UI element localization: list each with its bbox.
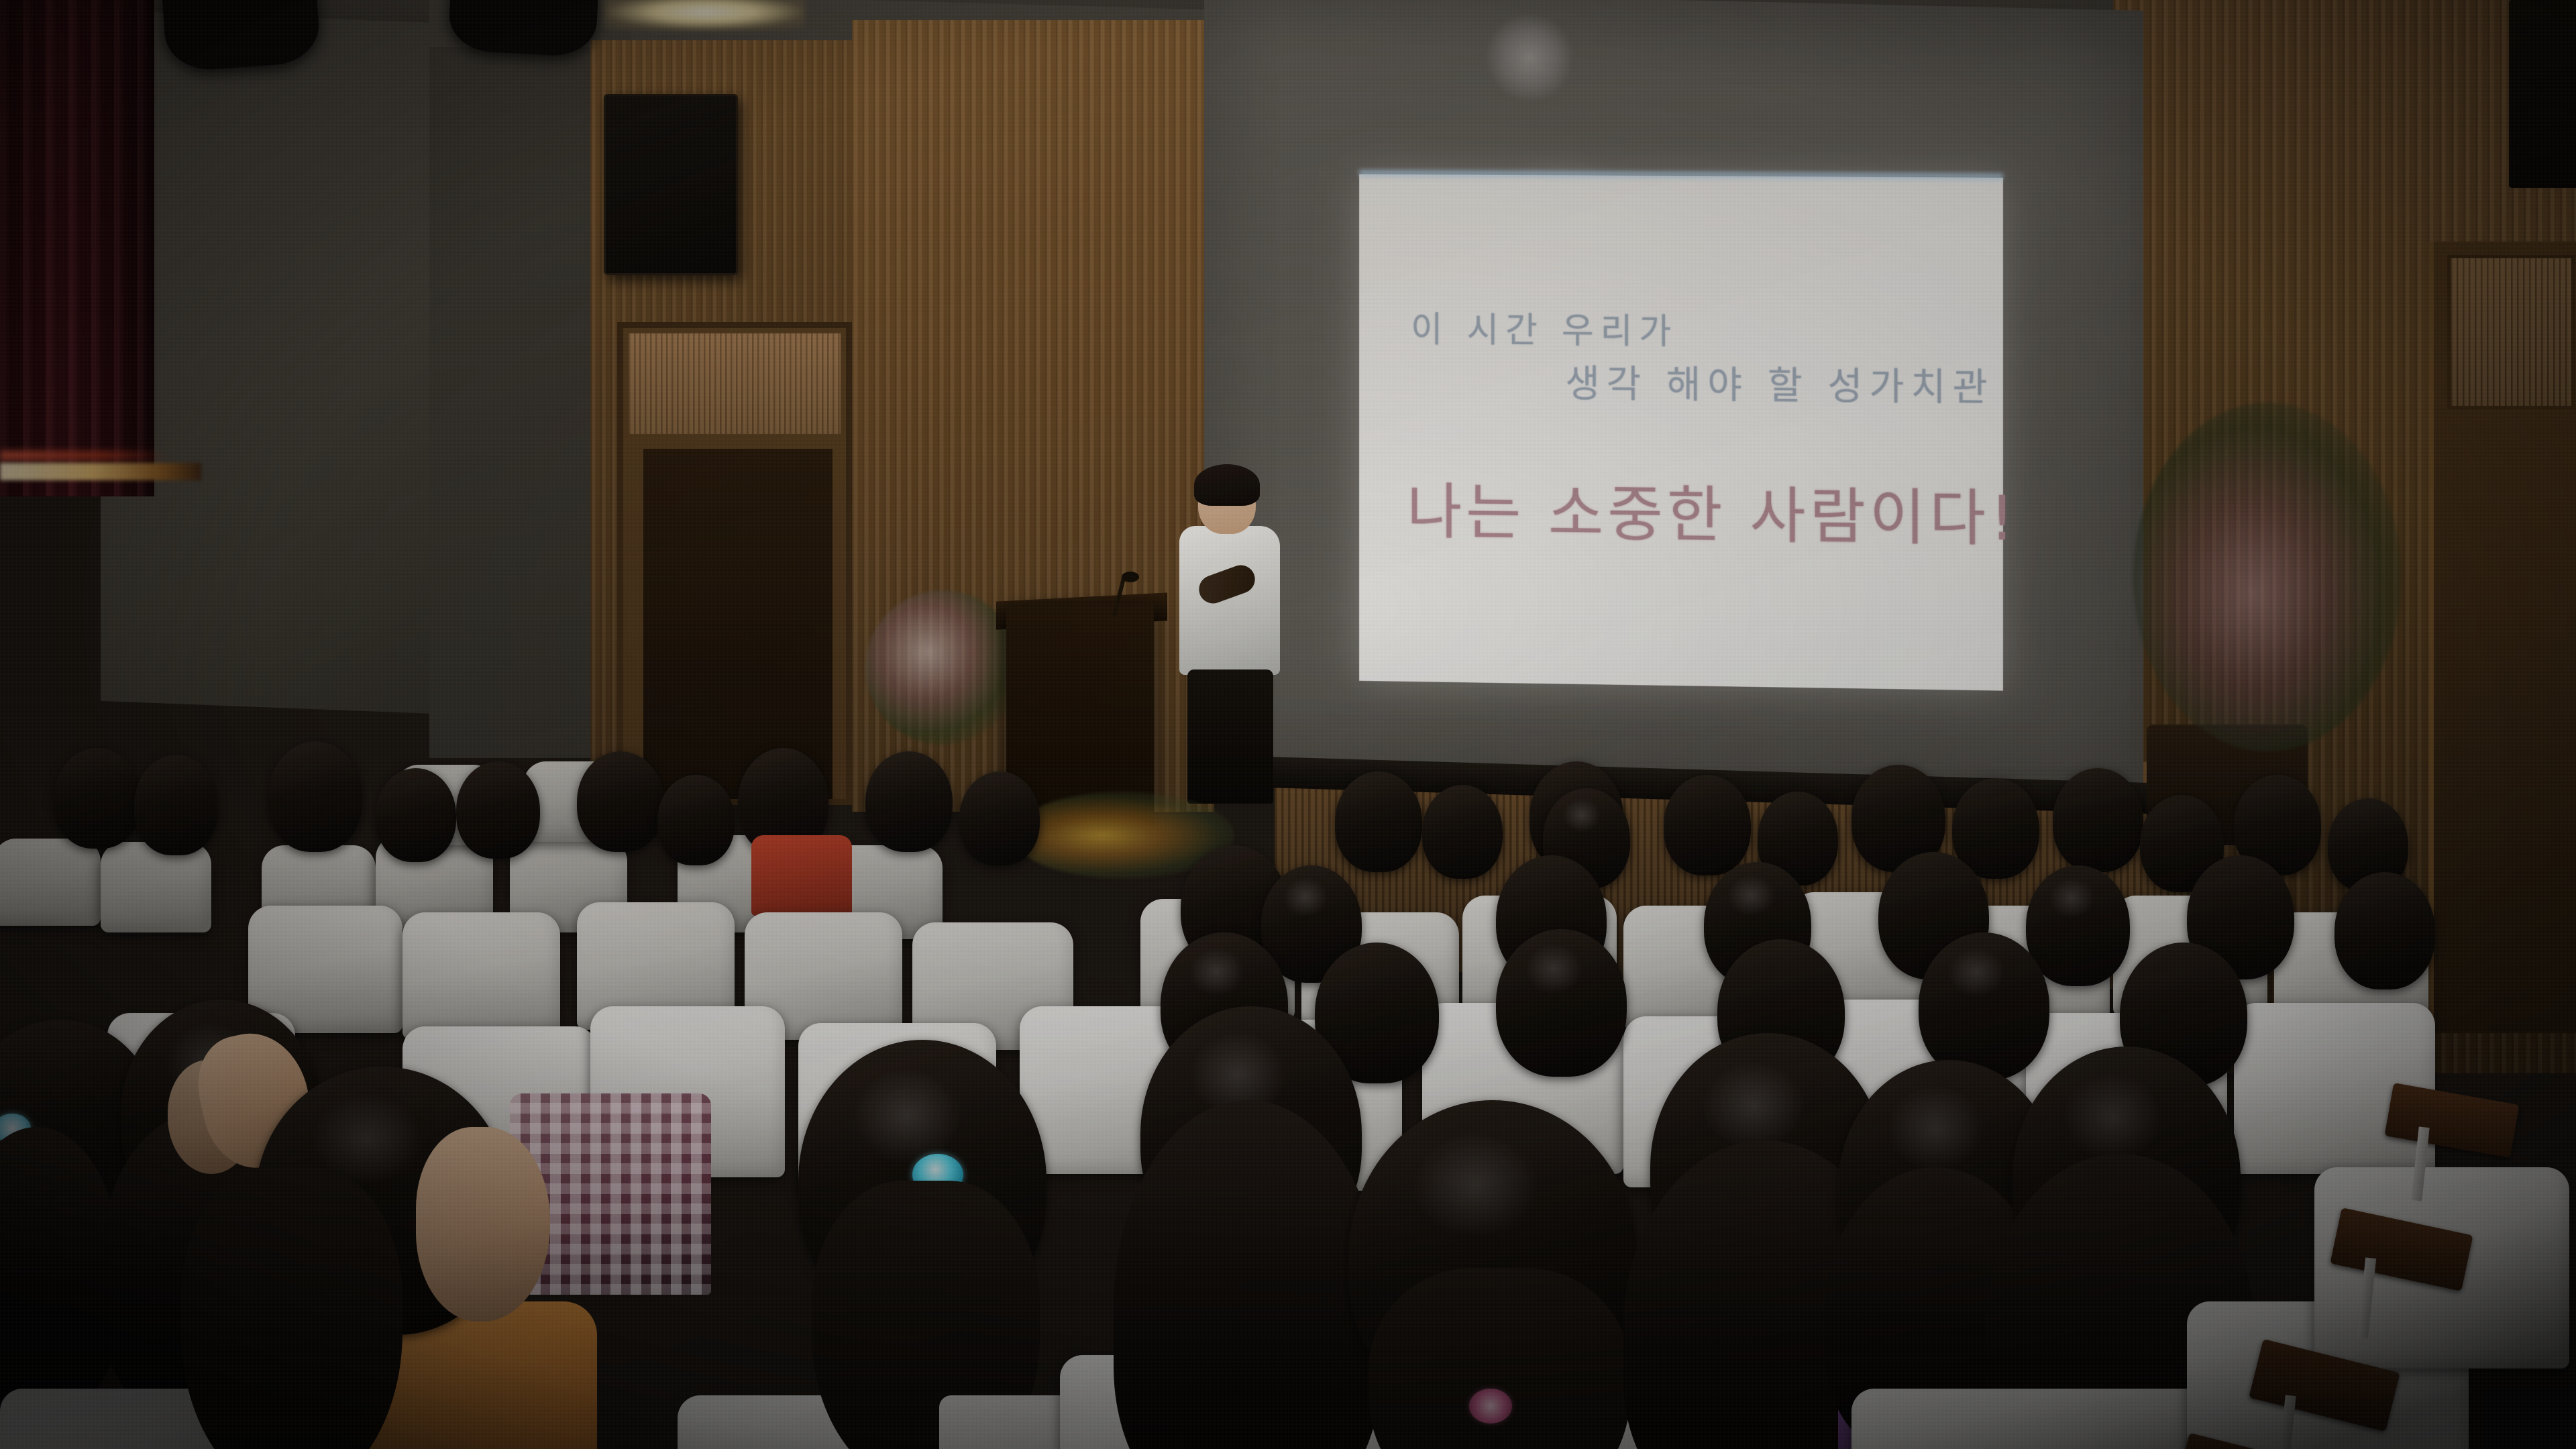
chair-mid xyxy=(402,912,560,1040)
curtain-folds xyxy=(0,0,154,496)
chair-back xyxy=(0,839,101,926)
audience-head xyxy=(134,755,218,855)
audience-head xyxy=(456,761,540,859)
presenter-shirt xyxy=(1179,526,1280,675)
door-transom xyxy=(629,333,841,434)
wall-speaker-icon xyxy=(604,94,738,275)
audience-head xyxy=(657,775,735,865)
right-speaker-icon xyxy=(2509,0,2576,188)
child-red-shirt-torso xyxy=(751,835,852,916)
slide-line-1: 이 시간 우리가 xyxy=(1411,301,1678,354)
audience-head xyxy=(2026,865,2130,986)
audience-head xyxy=(54,748,141,849)
audience-head xyxy=(2334,872,2435,989)
audience-head xyxy=(1335,771,1422,872)
presenter-hair xyxy=(1194,464,1260,506)
auditorium-photo: 이 시간 우리가 생각 해야 할 성가치관 나는 소중한 사람이다! xyxy=(0,0,2576,1449)
pink-hair-tie xyxy=(1469,1389,1512,1424)
audience-head xyxy=(959,771,1040,865)
stage-curtain xyxy=(0,0,154,496)
projection-screen: 이 시간 우리가 생각 해야 할 성가치관 나는 소중한 사람이다! xyxy=(1204,0,2143,789)
chair-back xyxy=(101,842,211,932)
audience-head xyxy=(1496,929,1627,1077)
audience-head xyxy=(1664,775,1751,875)
audience-head xyxy=(1422,785,1503,879)
audience-head xyxy=(2053,768,2143,872)
stage-edge-light-glow xyxy=(0,451,168,460)
audience-head xyxy=(577,751,664,852)
flower-arrangement-right xyxy=(2133,402,2402,751)
slide-line-2: 생각 해야 할 성가치관 xyxy=(1565,354,1994,412)
audience-head xyxy=(1919,932,2049,1080)
microphone-icon xyxy=(1122,572,1139,582)
slide-headline: 나는 소중한 사람이다! xyxy=(1407,463,2018,557)
exit-door-window xyxy=(2447,255,2575,409)
ceiling-light-icon xyxy=(604,0,805,30)
audience-head xyxy=(268,741,362,852)
projected-slide: 이 시간 우리가 생각 해야 할 성가치관 나는 소중한 사람이다! xyxy=(1359,174,2003,691)
audience-head xyxy=(865,751,953,852)
audience-seating xyxy=(0,711,2576,1449)
stage-edge-light xyxy=(0,463,201,480)
girl-orange-shirt-ponytail xyxy=(181,1167,402,1449)
audience-head xyxy=(376,768,456,862)
girl-orange-shirt-face xyxy=(416,1127,550,1322)
